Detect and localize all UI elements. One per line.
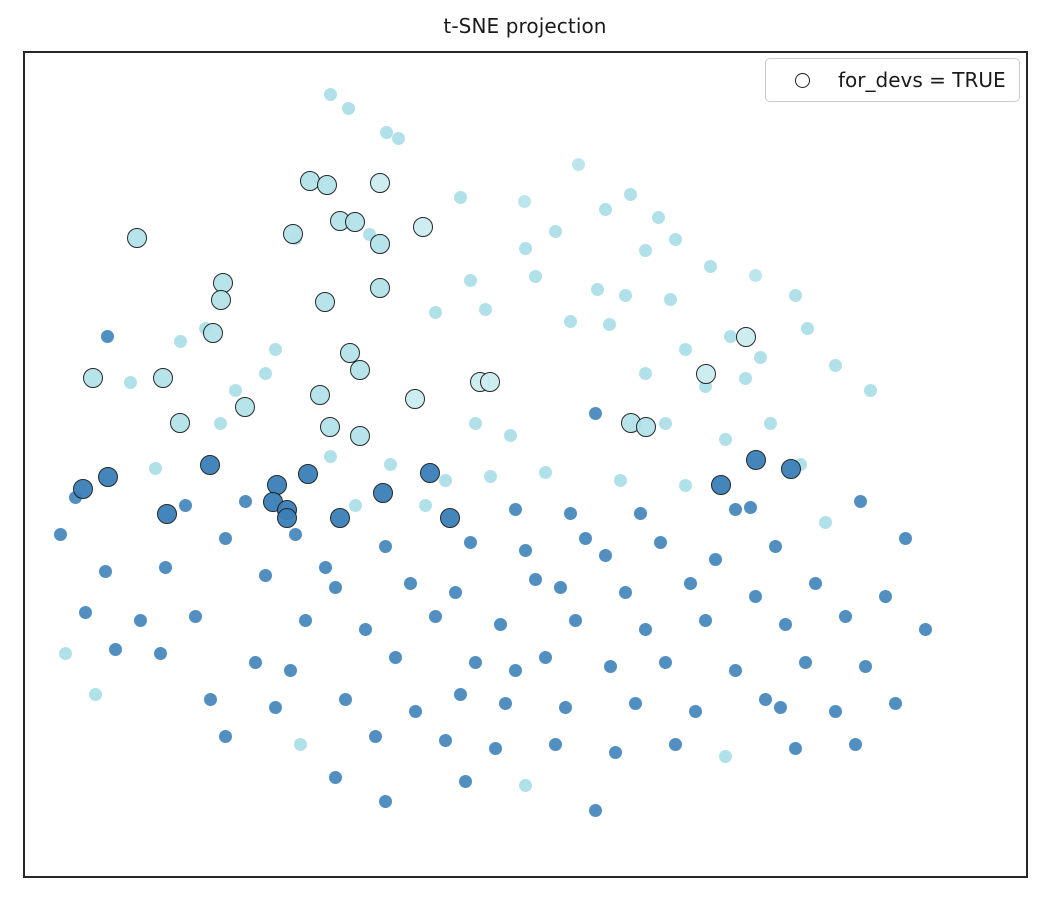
scatter-point-for-devs	[298, 464, 318, 484]
scatter-point-for-devs	[310, 385, 330, 405]
scatter-point	[679, 343, 692, 356]
scatter-point	[864, 384, 877, 397]
plot-area[interactable]	[23, 51, 1028, 878]
scatter-point	[449, 586, 462, 599]
scatter-point	[239, 495, 252, 508]
scatter-point	[639, 623, 652, 636]
scatter-point	[859, 660, 872, 673]
scatter-point	[342, 102, 355, 115]
scatter-point	[719, 433, 732, 446]
scatter-point	[569, 614, 582, 627]
scatter-point	[299, 614, 312, 627]
scatter-point	[749, 269, 762, 282]
scatter-point	[659, 656, 672, 669]
scatter-point	[159, 561, 172, 574]
scatter-point	[504, 429, 517, 442]
scatter-point-for-devs	[420, 463, 440, 483]
scatter-point	[829, 705, 842, 718]
scatter-point	[189, 610, 202, 623]
scatter-point-for-devs	[211, 290, 231, 310]
scatter-point	[269, 343, 282, 356]
scatter-point	[359, 623, 372, 636]
scatter-point	[259, 569, 272, 582]
scatter-points-layer	[25, 53, 1026, 876]
scatter-point-for-devs	[170, 413, 190, 433]
scatter-point	[518, 195, 531, 208]
scatter-point	[669, 233, 682, 246]
scatter-point	[652, 211, 665, 224]
scatter-point	[269, 701, 282, 714]
scatter-point	[719, 750, 732, 763]
scatter-point	[101, 330, 114, 343]
scatter-point	[469, 656, 482, 669]
scatter-point	[499, 697, 512, 710]
scatter-point	[454, 688, 467, 701]
scatter-point-for-devs	[235, 397, 255, 417]
scatter-point	[849, 738, 862, 751]
scatter-point	[919, 623, 932, 636]
scatter-point	[369, 730, 382, 743]
scatter-point-for-devs	[350, 426, 370, 446]
scatter-point	[464, 536, 477, 549]
scatter-point	[603, 318, 616, 331]
scatter-point	[699, 614, 712, 627]
scatter-point	[529, 270, 542, 283]
scatter-point	[564, 507, 577, 520]
scatter-point-for-devs	[203, 323, 223, 343]
scatter-point	[579, 532, 592, 545]
scatter-point	[749, 590, 762, 603]
scatter-point	[559, 701, 572, 714]
scatter-point-for-devs	[781, 459, 801, 479]
scatter-point	[764, 417, 777, 430]
scatter-point	[284, 664, 297, 677]
scatter-point	[704, 260, 717, 273]
scatter-point	[589, 804, 602, 817]
scatter-point	[329, 771, 342, 784]
scatter-point	[801, 322, 814, 335]
scatter-point	[339, 693, 352, 706]
scatter-point	[854, 495, 867, 508]
scatter-point	[829, 359, 842, 372]
scatter-point	[349, 499, 362, 512]
scatter-point	[59, 647, 72, 660]
scatter-point	[219, 532, 232, 545]
scatter-point	[679, 479, 692, 492]
scatter-point	[659, 417, 672, 430]
scatter-point	[319, 561, 332, 574]
scatter-point-for-devs	[157, 504, 177, 524]
scatter-point	[589, 407, 602, 420]
legend-circle-outline-icon	[795, 73, 810, 88]
scatter-point-for-devs	[370, 173, 390, 193]
scatter-point	[509, 664, 522, 677]
scatter-point	[214, 417, 227, 430]
scatter-point	[539, 651, 552, 664]
scatter-point	[429, 610, 442, 623]
scatter-point	[564, 315, 577, 328]
scatter-point-for-devs	[711, 475, 731, 495]
scatter-point-for-devs	[696, 364, 716, 384]
legend-label-for-devs: for_devs = TRUE	[838, 68, 1006, 92]
scatter-point	[489, 742, 502, 755]
legend[interactable]: for_devs = TRUE	[765, 58, 1020, 102]
scatter-point	[789, 289, 802, 302]
scatter-point	[134, 614, 147, 627]
scatter-point	[604, 660, 617, 673]
scatter-point	[174, 335, 187, 348]
scatter-point	[379, 540, 392, 553]
scatter-point	[774, 701, 787, 714]
scatter-point	[404, 577, 417, 590]
scatter-point	[79, 606, 92, 619]
scatter-point	[384, 458, 397, 471]
scatter-point	[739, 372, 752, 385]
scatter-point	[494, 618, 507, 631]
scatter-point-for-devs	[440, 508, 460, 528]
scatter-point	[149, 462, 162, 475]
scatter-point	[744, 501, 757, 514]
scatter-point	[484, 470, 497, 483]
scatter-point	[729, 503, 742, 516]
scatter-point	[409, 705, 422, 718]
tsne-figure: t-SNE projection for_devs = TRUE	[0, 0, 1050, 900]
scatter-point	[219, 730, 232, 743]
scatter-point	[259, 367, 272, 380]
scatter-point	[709, 553, 722, 566]
scatter-point-for-devs	[277, 508, 297, 528]
scatter-point	[324, 450, 337, 463]
scatter-point	[809, 577, 822, 590]
scatter-point	[380, 126, 393, 139]
scatter-point	[329, 581, 342, 594]
scatter-point	[469, 417, 482, 430]
scatter-point	[294, 738, 307, 751]
scatter-point	[572, 158, 585, 171]
scatter-point	[684, 577, 697, 590]
scatter-point	[464, 274, 477, 287]
scatter-point	[664, 293, 677, 306]
scatter-point	[519, 544, 532, 557]
scatter-point	[419, 499, 432, 512]
scatter-point	[599, 203, 612, 216]
scatter-point	[629, 697, 642, 710]
scatter-point-for-devs	[73, 479, 93, 499]
scatter-point	[639, 367, 652, 380]
scatter-point	[654, 536, 667, 549]
scatter-point	[624, 188, 637, 201]
scatter-point	[554, 581, 567, 594]
scatter-point	[109, 643, 122, 656]
scatter-point	[89, 688, 102, 701]
scatter-point	[819, 516, 832, 529]
scatter-point	[459, 775, 472, 788]
scatter-point	[99, 565, 112, 578]
scatter-point	[154, 647, 167, 660]
scatter-point	[549, 738, 562, 751]
scatter-point-for-devs	[405, 389, 425, 409]
scatter-point	[599, 549, 612, 562]
scatter-point-for-devs	[413, 217, 433, 237]
scatter-point	[179, 499, 192, 512]
scatter-point-for-devs	[317, 175, 337, 195]
scatter-point	[519, 242, 532, 255]
scatter-point-for-devs	[370, 278, 390, 298]
scatter-point	[519, 779, 532, 792]
scatter-point	[634, 507, 647, 520]
scatter-point	[549, 225, 562, 238]
scatter-point	[124, 376, 137, 389]
scatter-point	[439, 474, 452, 487]
scatter-point	[229, 384, 242, 397]
scatter-point	[799, 656, 812, 669]
scatter-point-for-devs	[98, 467, 118, 487]
scatter-point	[879, 590, 892, 603]
scatter-point	[54, 528, 67, 541]
scatter-point-for-devs	[320, 417, 340, 437]
scatter-point	[204, 693, 217, 706]
scatter-point	[789, 742, 802, 755]
scatter-point	[639, 244, 652, 257]
scatter-point	[539, 466, 552, 479]
page-title: t-SNE projection	[0, 14, 1050, 38]
scatter-point	[839, 610, 852, 623]
scatter-point	[429, 306, 442, 319]
scatter-point	[379, 795, 392, 808]
scatter-point	[769, 540, 782, 553]
scatter-point	[889, 697, 902, 710]
scatter-point	[439, 734, 452, 747]
scatter-point	[614, 474, 627, 487]
scatter-point	[389, 651, 402, 664]
scatter-point-for-devs	[345, 212, 365, 232]
scatter-point	[249, 656, 262, 669]
scatter-point	[509, 503, 522, 516]
scatter-point-for-devs	[370, 234, 390, 254]
scatter-point	[529, 573, 542, 586]
scatter-point	[619, 586, 632, 599]
scatter-point	[729, 664, 742, 677]
scatter-point-for-devs	[736, 327, 756, 347]
scatter-point	[689, 705, 702, 718]
scatter-point	[759, 693, 772, 706]
scatter-point-for-devs	[330, 508, 350, 528]
scatter-point-for-devs	[200, 455, 220, 475]
scatter-point-for-devs	[350, 360, 370, 380]
scatter-point-for-devs	[746, 450, 766, 470]
scatter-point-for-devs	[636, 417, 656, 437]
scatter-point	[454, 191, 467, 204]
scatter-point	[289, 528, 302, 541]
scatter-point-for-devs	[315, 292, 335, 312]
scatter-point	[591, 283, 604, 296]
scatter-point	[619, 289, 632, 302]
scatter-point	[324, 88, 337, 101]
scatter-point	[479, 303, 492, 316]
scatter-point-for-devs	[83, 368, 103, 388]
scatter-point-for-devs	[373, 483, 393, 503]
scatter-point-for-devs	[480, 372, 500, 392]
scatter-point	[754, 351, 767, 364]
scatter-point-for-devs	[153, 368, 173, 388]
scatter-point	[609, 746, 622, 759]
scatter-point	[669, 738, 682, 751]
scatter-point	[899, 532, 912, 545]
scatter-point-for-devs	[127, 228, 147, 248]
scatter-point	[779, 618, 792, 631]
scatter-point	[392, 132, 405, 145]
